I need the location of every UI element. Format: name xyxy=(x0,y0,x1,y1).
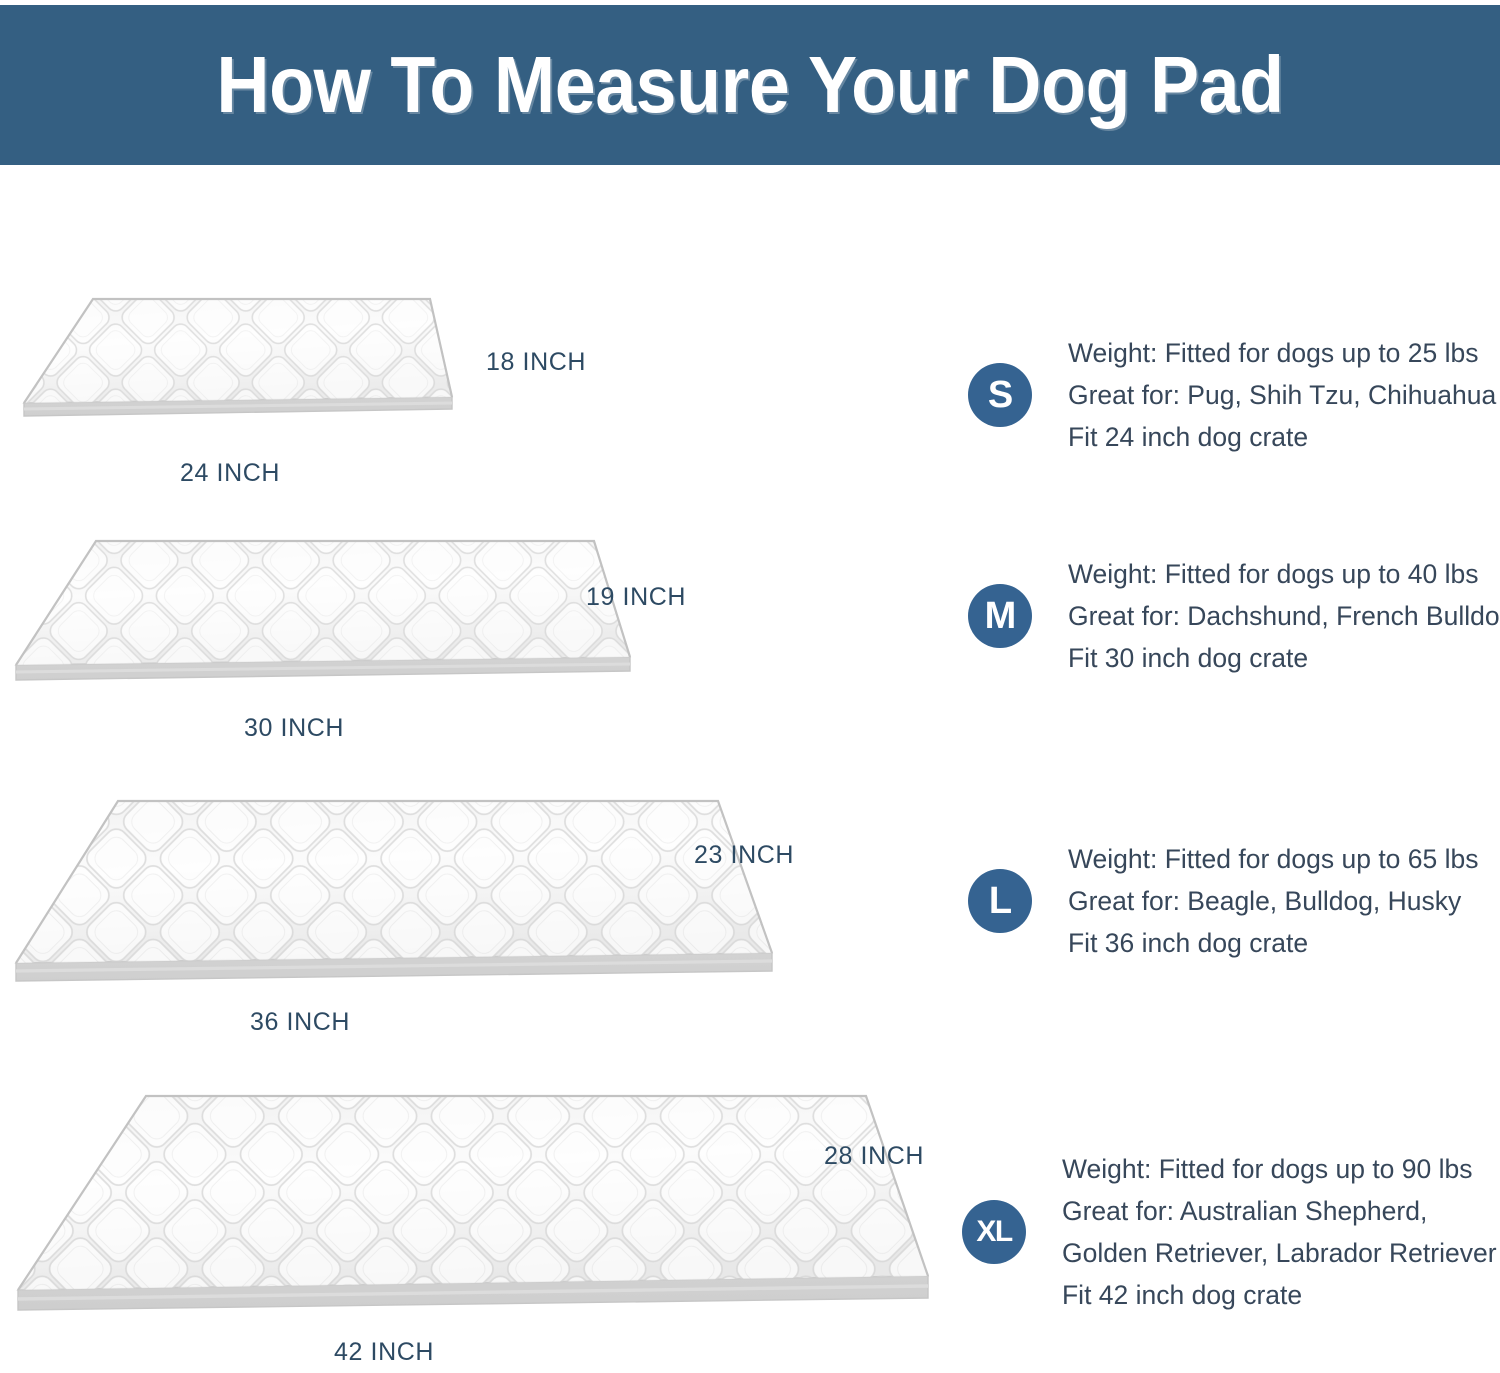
dimension-label-xl-width: 42 INCH xyxy=(334,1338,434,1367)
size-info-row-l: L Weight: Fitted for dogs up to 65 lbs G… xyxy=(968,838,1479,964)
size-crate-line-l: Fit 36 inch dog crate xyxy=(1068,922,1479,964)
pad-illustration-m xyxy=(8,525,638,710)
dimension-label-s-depth: 18 INCH xyxy=(486,348,586,377)
quilted-pad-svg-xl xyxy=(4,1078,944,1346)
size-description-xl: Weight: Fitted for dogs up to 90 lbs Gre… xyxy=(1062,1148,1497,1316)
size-breeds-line-1-xl: Great for: Australian Shepherd, xyxy=(1062,1190,1497,1232)
pad-illustration-xl xyxy=(4,1078,944,1346)
size-breeds-line-2-xl: Golden Retriever, Labrador Retriever xyxy=(1062,1232,1497,1274)
size-breeds-line-m: Great for: Dachshund, French Bulldog xyxy=(1068,595,1500,637)
size-badge-m: M xyxy=(968,584,1032,648)
dimension-label-l-depth: 23 INCH xyxy=(694,841,794,870)
size-description-s: Weight: Fitted for dogs up to 25 lbs Gre… xyxy=(1068,332,1496,458)
size-crate-line-s: Fit 24 inch dog crate xyxy=(1068,416,1496,458)
size-description-m: Weight: Fitted for dogs up to 40 lbs Gre… xyxy=(1068,553,1500,679)
dimension-label-m-depth: 19 INCH xyxy=(586,583,686,612)
quilted-pad-svg-l xyxy=(6,785,786,1015)
page-title: How To Measure Your Dog Pad xyxy=(216,45,1283,125)
size-info-row-s: S Weight: Fitted for dogs up to 25 lbs G… xyxy=(968,332,1496,458)
quilted-pad-svg-s xyxy=(18,285,458,450)
size-badge-xl: XL xyxy=(962,1200,1026,1264)
size-badge-s: S xyxy=(968,363,1032,427)
size-weight-line-m: Weight: Fitted for dogs up to 40 lbs xyxy=(1068,553,1500,595)
pad-illustration-s xyxy=(18,285,458,450)
size-breeds-line-l: Great for: Beagle, Bulldog, Husky xyxy=(1068,880,1479,922)
dimension-label-xl-depth: 28 INCH xyxy=(824,1142,924,1171)
pad-body-s xyxy=(24,299,452,416)
dimension-label-s-width: 24 INCH xyxy=(180,459,280,488)
header-banner: How To Measure Your Dog Pad xyxy=(0,5,1500,165)
pad-body-xl xyxy=(18,1096,928,1310)
pad-body-l xyxy=(16,801,772,981)
size-weight-line-xl: Weight: Fitted for dogs up to 90 lbs xyxy=(1062,1148,1497,1190)
size-badge-l: L xyxy=(968,869,1032,933)
dimension-label-m-width: 30 INCH xyxy=(244,714,344,743)
size-info-row-xl: XL Weight: Fitted for dogs up to 90 lbs … xyxy=(962,1148,1497,1316)
size-description-l: Weight: Fitted for dogs up to 65 lbs Gre… xyxy=(1068,838,1479,964)
size-crate-line-xl: Fit 42 inch dog crate xyxy=(1062,1274,1497,1316)
pad-body-m xyxy=(16,541,630,680)
dimension-label-l-width: 36 INCH xyxy=(250,1008,350,1037)
size-weight-line-s: Weight: Fitted for dogs up to 25 lbs xyxy=(1068,332,1496,374)
size-weight-line-l: Weight: Fitted for dogs up to 65 lbs xyxy=(1068,838,1479,880)
infographic-page: How To Measure Your Dog Pad xyxy=(0,0,1500,1373)
quilted-pad-svg-m xyxy=(8,525,638,710)
size-crate-line-m: Fit 30 inch dog crate xyxy=(1068,637,1500,679)
size-breeds-line-s: Great for: Pug, Shih Tzu, Chihuahua xyxy=(1068,374,1496,416)
size-info-row-m: M Weight: Fitted for dogs up to 40 lbs G… xyxy=(968,553,1500,679)
pad-illustration-l xyxy=(6,785,786,1015)
